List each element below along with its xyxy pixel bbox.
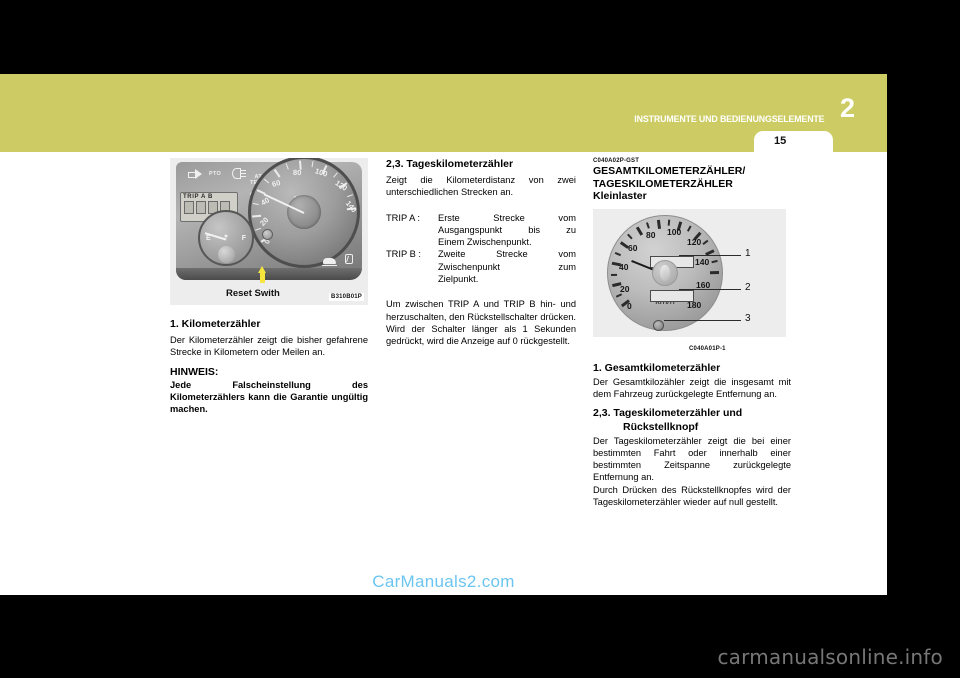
- trip-b-label: TRIP B :: [386, 248, 438, 285]
- fuel-hub: [218, 246, 235, 263]
- speedo-number: 80: [293, 168, 302, 177]
- paragraph-tages-rueckstell: Der Tageskilometerzähler zeigt die bei e…: [593, 435, 791, 484]
- trip-a-line2: Ausgangspunkt bis zu: [438, 224, 576, 236]
- chapter-title: INSTRUMENTE UND BEDIENUNGSELEMENTE: [634, 114, 824, 125]
- trip-a-line3: Einem Zwischenpunkt.: [438, 237, 532, 247]
- callout-label-2: 2: [745, 282, 751, 293]
- trip-lcd-label: TRIP A B: [181, 193, 237, 200]
- figure-code-speedometer: C040A01P-1: [689, 346, 726, 352]
- paragraph-hinweis: Jede Falscheinstellung des Kilometerzähl…: [170, 379, 368, 416]
- column-middle: 2,3. Tageskilometerzähler Zeigt die Kilo…: [386, 158, 576, 347]
- section-title-line2: TAGESKILOMETERZÄHLER: [593, 178, 791, 191]
- fuel-gauge: E F ●: [198, 210, 254, 266]
- callout-arrow-icon: [258, 266, 267, 283]
- pto-indicator-label: PTO: [209, 171, 221, 177]
- callout-line-3: [664, 320, 741, 321]
- heading-kilometerzaehler: 1. Kilometerzähler: [170, 318, 368, 331]
- gauge-number: 120: [687, 237, 701, 247]
- gauge-number: 20: [620, 284, 629, 294]
- door-ajar-icon: [323, 258, 336, 264]
- gauge-face: 0 20 40 60 80 100 120 140 160 180 km/h: [607, 215, 723, 331]
- trip-b-line3: Zielpunkt.: [438, 274, 478, 284]
- fuel-full-label: F: [242, 235, 246, 242]
- paragraph-kilometerzaehler: Der Kilometerzähler zeigt die bisher gef…: [170, 334, 368, 359]
- paragraph-tageskilometerzaehler: Zeigt die Kilometerdistanz von zwei unte…: [386, 174, 576, 199]
- heading-hinweis: HINWEIS:: [170, 366, 368, 379]
- gauge-number: 60: [628, 243, 637, 253]
- chapter-number: 2: [840, 95, 855, 122]
- cluster-housing: PTO ATTEMP PWR O/DOFF HOLD LOW HI TRIP A…: [176, 162, 362, 280]
- trip-a-label: TRIP A :: [386, 212, 438, 249]
- trip-b-row: TRIP B : Zweite Strecke vom Zwischenpunk…: [386, 248, 576, 285]
- section-title-line3: Kleinlaster: [593, 190, 791, 203]
- heading-tages-rueckstell-line2: Rückstellknopf: [623, 421, 791, 434]
- watermark-carmanuals2: CarManuals2.com: [0, 572, 887, 592]
- trip-a-text: Erste Strecke vom Ausgangspunkt bis zu E…: [438, 212, 576, 249]
- trip-a-row: TRIP A : Erste Strecke vom Ausgangspunkt…: [386, 212, 576, 249]
- gauge-number: 140: [695, 257, 709, 267]
- trip-b-text: Zweite Strecke vom Zwischenpunkt zum Zie…: [438, 248, 576, 285]
- page-number-tab: 15: [754, 131, 833, 152]
- gauge-hub: [652, 260, 678, 286]
- callout-line-1: [679, 255, 741, 256]
- heading-gesamtkilometerzaehler: 1. Gesamtkilometerzähler: [593, 362, 791, 375]
- cluster-illustration: PTO ATTEMP PWR O/DOFF HOLD LOW HI TRIP A…: [170, 158, 368, 305]
- reset-knob[interactable]: [653, 320, 664, 331]
- figure-speedometer: 0 20 40 60 80 100 120 140 160 180 km/h: [593, 209, 786, 337]
- gauge-number: 40: [619, 262, 628, 272]
- seatbelt-icon: [345, 254, 353, 264]
- page-number: 15: [774, 135, 786, 147]
- callout-label-3: 3: [745, 313, 751, 324]
- paragraph-gesamtkilometerzaehler: Der Gesamtkilozähler zeigt die insgesamt…: [593, 376, 791, 401]
- figure-instrument-cluster: PTO ATTEMP PWR O/DOFF HOLD LOW HI TRIP A…: [170, 158, 368, 305]
- turn-signal-arrow-icon: [188, 169, 203, 179]
- speedometer-illustration: 0 20 40 60 80 100 120 140 160 180 km/h: [593, 209, 786, 337]
- gauge-number: 80: [646, 230, 655, 240]
- screenshot-root: INSTRUMENTE UND BEDIENUNGSELEMENTE 2 15 …: [0, 0, 960, 678]
- trip-b-line1: Zweite Strecke vom: [438, 248, 576, 260]
- bottom-site-label: carmanualsonline.info: [717, 645, 943, 669]
- column-right: C040A02P-GST GESAMTKILOMETERZÄHLER/ TAGE…: [593, 158, 791, 508]
- trip-a-line1: Erste Strecke vom: [438, 212, 576, 224]
- heading-tages-rueckstell-line1: 2,3. Tageskilometerzähler und: [593, 407, 791, 420]
- speedometer-dial: 0 20 40 60 80 100 120 140 km/h: [248, 158, 360, 268]
- figure-caption-reset-switch: Reset Swith: [226, 288, 280, 299]
- trip-b-line2: Zwischenpunkt zum: [438, 261, 576, 273]
- heading-tageskilometerzaehler: 2,3. Tageskilometerzähler: [386, 158, 576, 171]
- paragraph-trip-switching: Um zwischen TRIP A und TRIP B hin- und h…: [386, 298, 576, 347]
- speedo-number: 100: [314, 166, 329, 178]
- trip-odometer-window: [650, 290, 694, 302]
- page-header-band: INSTRUMENTE UND BEDIENUNGSELEMENTE 2 15: [0, 74, 887, 152]
- gauge-number: 0: [627, 301, 632, 311]
- section-code: C040A02P-GST: [593, 158, 791, 164]
- column-left: PTO ATTEMP PWR O/DOFF HOLD LOW HI TRIP A…: [170, 158, 368, 416]
- callout-label-1: 1: [745, 248, 751, 259]
- reset-switch-button[interactable]: [262, 229, 273, 240]
- gauge-number: 100: [667, 227, 681, 237]
- speedo-number: 140: [344, 199, 359, 214]
- manual-page: INSTRUMENTE UND BEDIENUNGSELEMENTE 2 15 …: [0, 74, 887, 595]
- callout-line-2: [679, 289, 741, 290]
- figure-code-cluster: B310B01P: [329, 293, 364, 301]
- section-title-line1: GESAMTKILOMETERZÄHLER/: [593, 165, 791, 178]
- paragraph-reset-knob: Durch Drücken des Rückstellknopfes wird …: [593, 484, 791, 509]
- headlight-beam-icon: [232, 168, 246, 179]
